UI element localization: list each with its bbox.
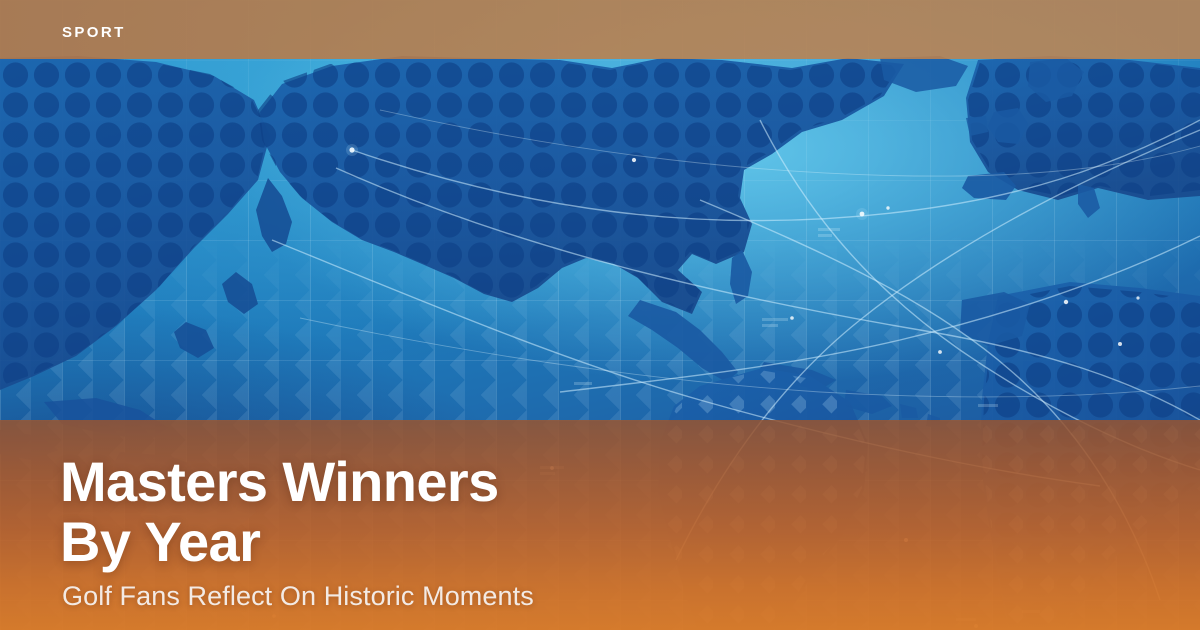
category-kicker: SPORT <box>62 25 126 40</box>
page-subtitle: Golf Fans Reflect On Historic Moments <box>62 581 534 612</box>
page-title: Masters Winners By Year <box>60 452 499 572</box>
headline-line-1: Masters Winners <box>60 452 499 512</box>
top-band-tint <box>0 0 1200 59</box>
social-share-banner: SPORT Masters Winners By Year Golf Fans … <box>0 0 1200 630</box>
headline-line-2: By Year <box>60 512 499 572</box>
